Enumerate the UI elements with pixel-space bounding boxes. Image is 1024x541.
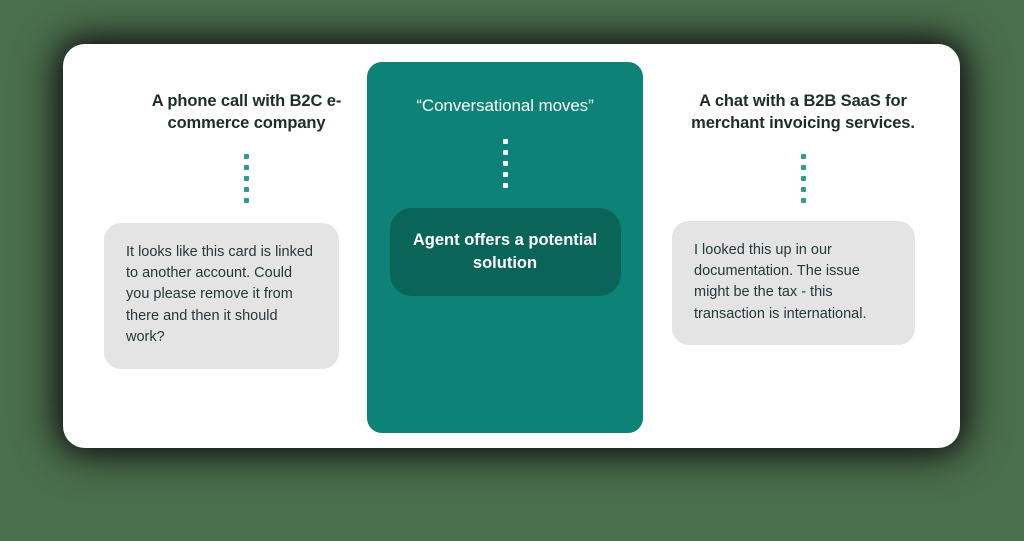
connector-dot-icon xyxy=(244,176,249,181)
connector-dot-icon xyxy=(503,139,508,144)
connector-dot-icon xyxy=(503,172,508,177)
column-center-connector-dots xyxy=(367,139,643,188)
column-right-header: A chat with a B2B SaaS for merchant invo… xyxy=(658,91,948,135)
main-card: A phone call with B2C e-commerce company… xyxy=(63,44,960,448)
column-center: “Conversational moves” Agent offers a po… xyxy=(367,44,643,448)
connector-dot-icon xyxy=(244,198,249,203)
message-bubble-right: I looked this up in our documentation. T… xyxy=(672,221,915,346)
column-center-header: “Conversational moves” xyxy=(367,95,643,117)
connector-dot-icon xyxy=(244,154,249,159)
column-right: A chat with a B2B SaaS for merchant invo… xyxy=(658,44,948,448)
connector-dot-icon xyxy=(801,165,806,170)
connector-dot-icon xyxy=(503,183,508,188)
connector-dot-icon xyxy=(244,165,249,170)
message-bubble-left: It looks like this card is linked to ano… xyxy=(104,223,339,369)
connector-dot-icon xyxy=(244,187,249,192)
column-left-header: A phone call with B2C e-commerce company xyxy=(104,91,389,135)
column-left: A phone call with B2C e-commerce company… xyxy=(104,44,389,448)
connector-dot-icon xyxy=(801,154,806,159)
connector-dot-icon xyxy=(503,161,508,166)
conversational-move-card: Agent offers a potential solution xyxy=(390,208,621,295)
conversational-moves-panel: “Conversational moves” Agent offers a po… xyxy=(367,62,643,433)
connector-dot-icon xyxy=(801,198,806,203)
connector-dot-icon xyxy=(503,150,508,155)
connector-dot-icon xyxy=(801,187,806,192)
connector-dot-icon xyxy=(801,176,806,181)
column-left-connector-dots xyxy=(104,154,389,203)
column-right-connector-dots xyxy=(658,154,948,203)
